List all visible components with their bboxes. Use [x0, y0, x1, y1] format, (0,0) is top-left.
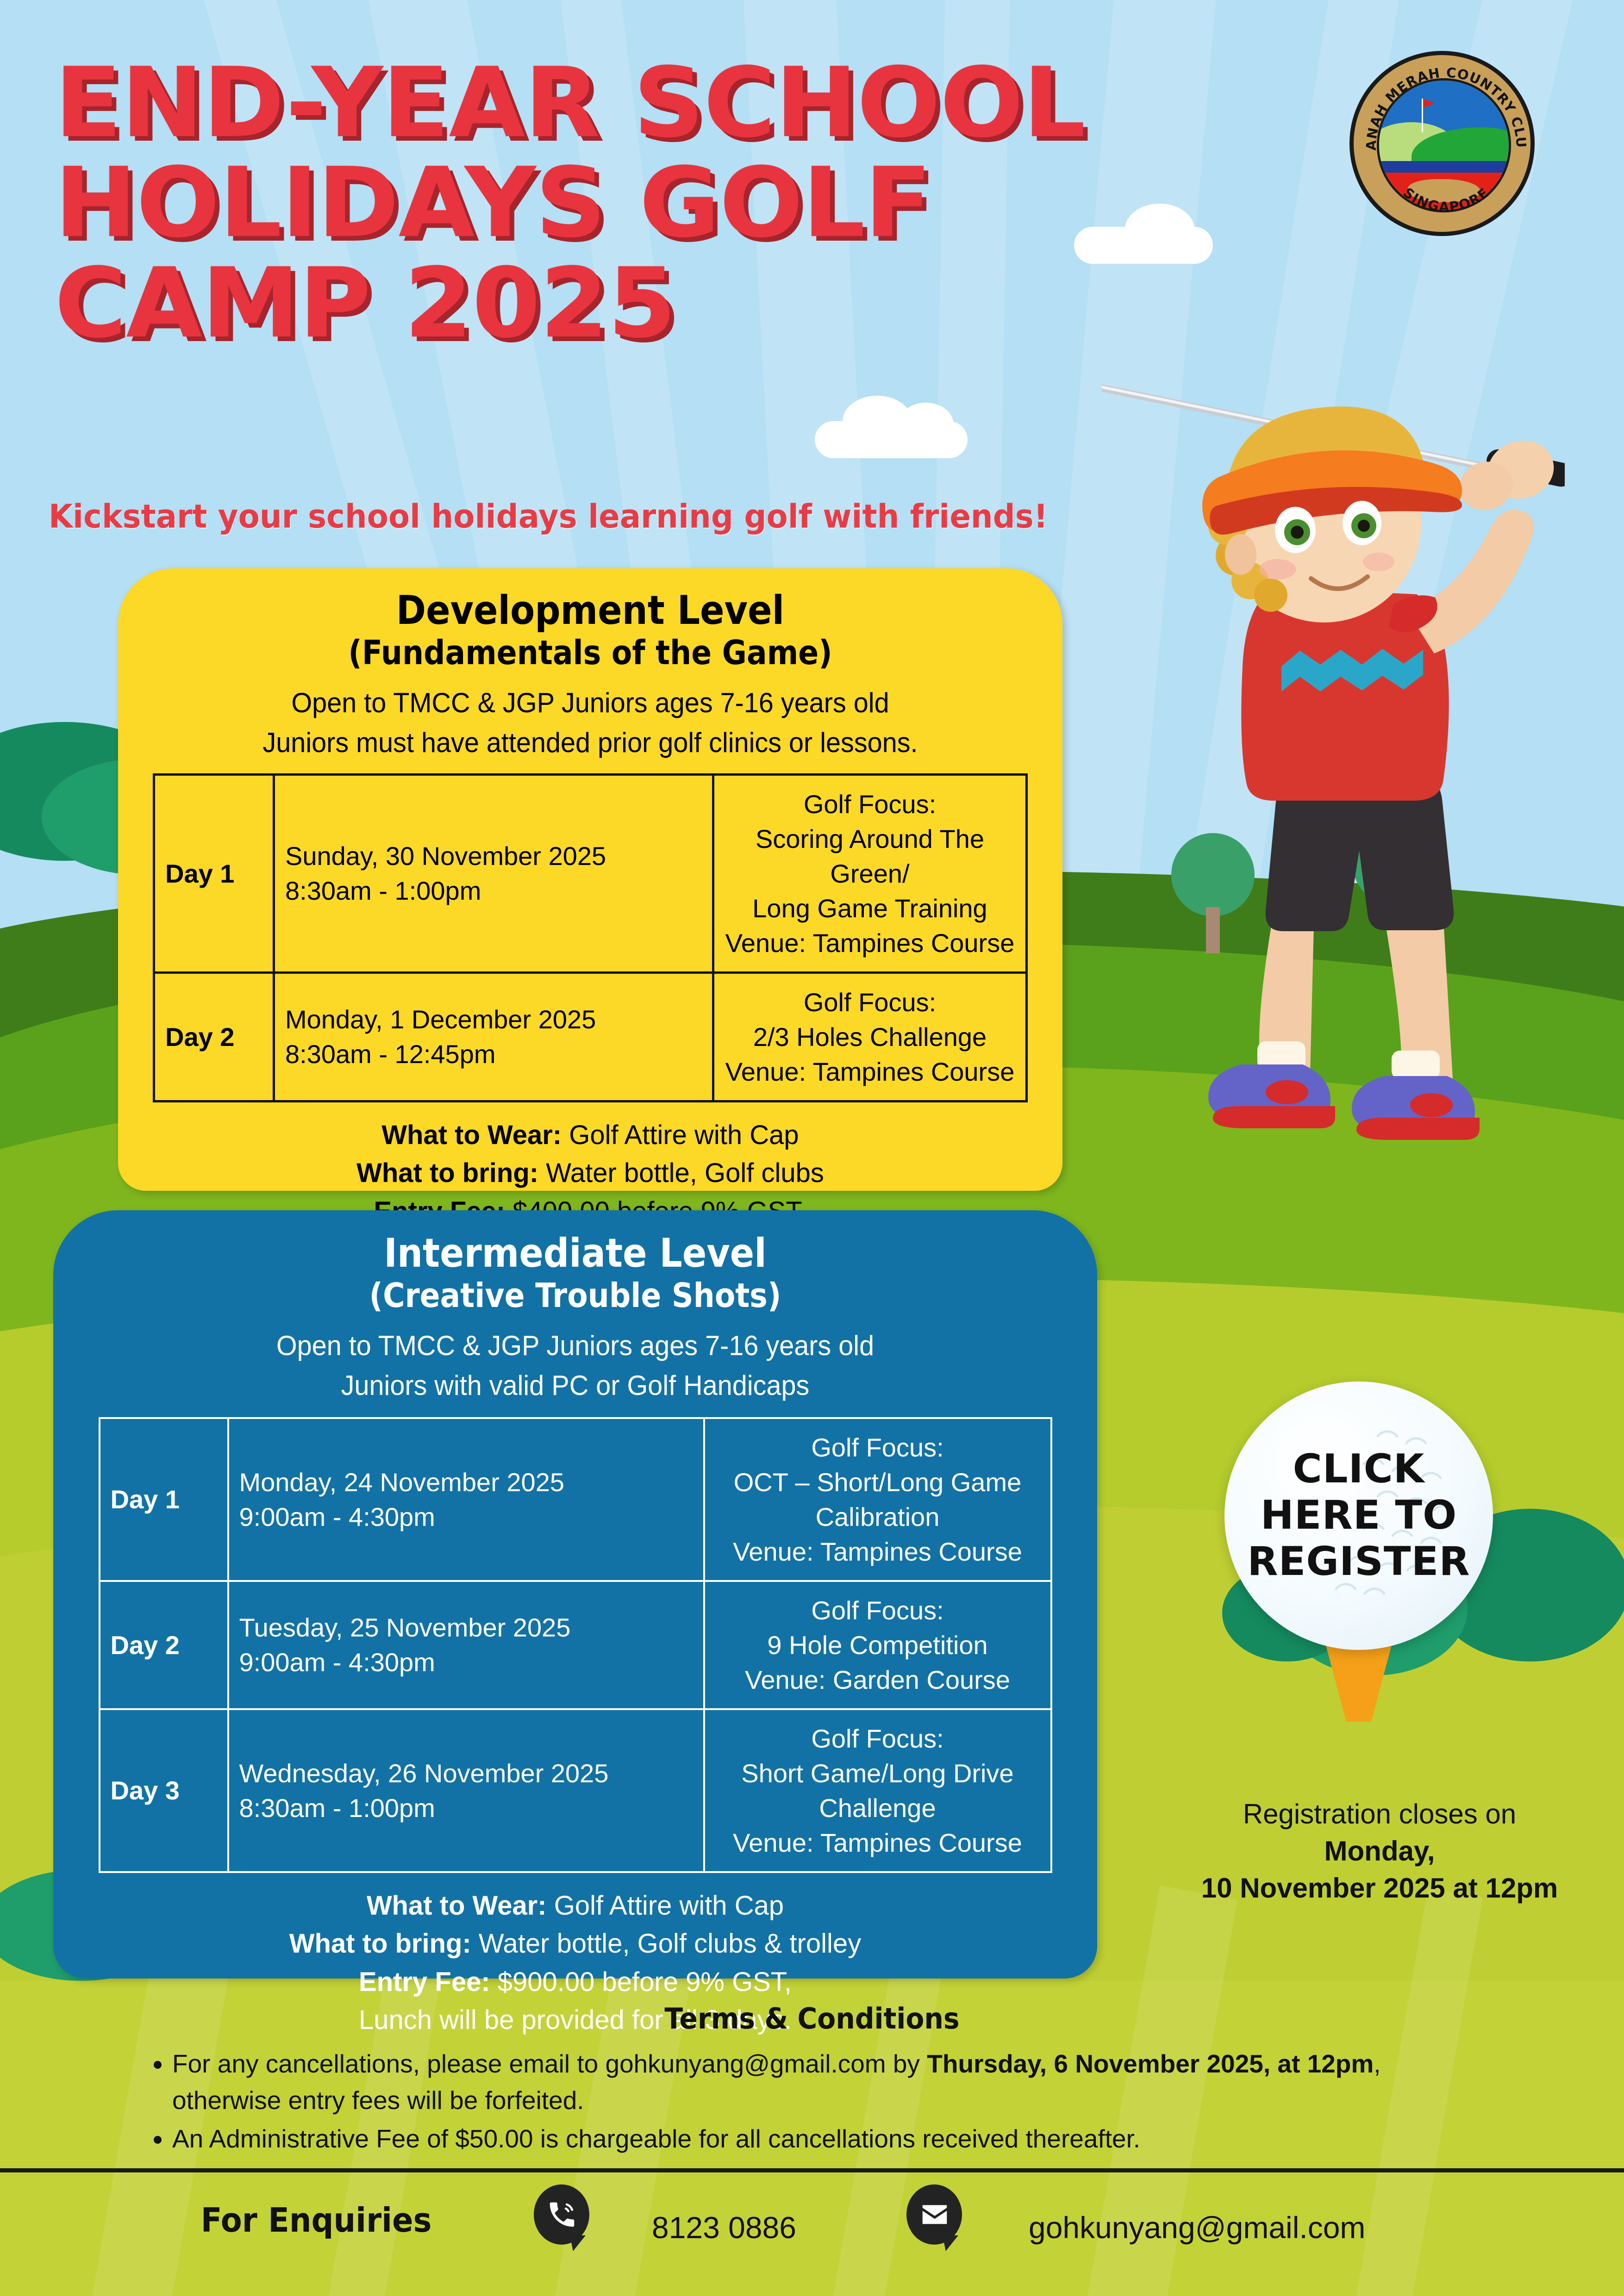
phone-icon[interactable]	[534, 2184, 589, 2245]
date-time-cell: Monday, 24 November 2025 9:00am - 4:30pm	[228, 1418, 704, 1581]
wear-value: Golf Attire with Cap	[569, 1120, 799, 1150]
wear-label: What to Wear:	[367, 1891, 547, 1921]
date-text: Monday, 1 December 2025	[285, 1002, 702, 1037]
cta-line-1: CLICK	[1293, 1446, 1425, 1493]
page-title: END-YEAR SCHOOL HOLIDAYS GOLF CAMP 2025	[55, 53, 1292, 354]
title-line-1: END-YEAR SCHOOL	[55, 53, 1292, 153]
wear-value: Golf Attire with Cap	[554, 1891, 784, 1921]
registration-closes-note: Registration closes on Monday, 10 Novemb…	[1139, 1796, 1620, 1906]
intermediate-title: Intermediate Level	[106, 1232, 1045, 1275]
focus-cell: Golf Focus: Scoring Around The Green/ Lo…	[713, 774, 1027, 972]
development-subtitle: (Fundamentals of the Game)	[165, 635, 1015, 671]
development-eligibility-1: Open to TMCC & JGP Juniors ages 7-16 yea…	[137, 683, 1043, 722]
fee-value: $900.00 before 9% GST,	[498, 1967, 792, 1997]
logo-country-name: SINGAPORE	[1400, 185, 1492, 215]
closes-line-3: 10 November 2025 at 12pm	[1139, 1870, 1620, 1907]
page-subtitle: Kickstart your school holidays learning …	[49, 498, 1115, 535]
focus-cell: Golf Focus: 2/3 Holes Challenge Venue: T…	[713, 972, 1027, 1101]
fee-label: Entry Fee:	[359, 1967, 490, 1997]
list-item: For any cancellations, please email to g…	[172, 2046, 1486, 2119]
table-row: Day 3 Wednesday, 26 November 2025 8:30am…	[100, 1709, 1051, 1872]
golfer-illustration	[1102, 370, 1565, 1342]
terms-list: For any cancellations, please email to g…	[153, 2046, 1486, 2159]
time-text: 8:30am - 12:45pm	[285, 1037, 702, 1071]
intermediate-eligibility-2: Juniors with valid PC or Golf Handicaps	[74, 1366, 1076, 1405]
time-text: 8:30am - 1:00pm	[239, 1791, 693, 1825]
day-label: Day 1	[154, 774, 274, 972]
svg-text:TANAH MERAH COUNTRY CLUB: TANAH MERAH COUNTRY CLUB	[1354, 55, 1529, 151]
wear-label: What to Wear:	[381, 1120, 562, 1150]
logo-ring-text: TANAH MERAH COUNTRY CLUB SINGAPORE	[1354, 55, 1539, 240]
focus-line-2: Long Game Training	[725, 891, 1015, 926]
date-time-cell: Sunday, 30 November 2025 8:30am - 1:00pm	[274, 774, 713, 972]
list-item: An Administrative Fee of $50.00 is charg…	[172, 2121, 1486, 2157]
wear-line: What to Wear: Golf Attire with Cap	[118, 1116, 1062, 1154]
focus-line-1: OCT – Short/Long Game Calibration	[715, 1465, 1040, 1534]
time-text: 9:00am - 4:30pm	[239, 1645, 693, 1680]
terms-item1-b: Thursday, 6 November 2025, at 12pm	[927, 2049, 1374, 2078]
focus-line-1: Scoring Around The Green/	[725, 821, 1015, 891]
intermediate-schedule-table: Day 1 Monday, 24 November 2025 9:00am - …	[99, 1417, 1052, 1873]
bring-value: Water bottle, Golf clubs	[546, 1158, 824, 1188]
enquiries-label: For Enquiries	[201, 2201, 432, 2240]
venue-text: Venue: Garden Course	[715, 1662, 1040, 1697]
closes-line-2: Monday,	[1139, 1833, 1620, 1870]
time-text: 8:30am - 1:00pm	[285, 873, 702, 908]
intermediate-level-card: Intermediate Level (Creative Trouble Sho…	[53, 1210, 1097, 1979]
focus-line-1: Short Game/Long Drive Challenge	[715, 1756, 1040, 1825]
title-line-3: CAMP 2025	[55, 254, 1292, 354]
focus-label: Golf Focus:	[715, 1721, 1040, 1756]
date-time-cell: Tuesday, 25 November 2025 9:00am - 4:30p…	[228, 1581, 704, 1709]
terms-title: Terms & Conditions	[49, 2002, 1575, 2035]
cloud-icon	[898, 403, 954, 447]
svg-text:SINGAPORE: SINGAPORE	[1400, 185, 1492, 215]
focus-cell: Golf Focus: Short Game/Long Drive Challe…	[704, 1709, 1051, 1872]
venue-text: Venue: Tampines Course	[715, 1534, 1040, 1569]
day-label: Day 2	[100, 1581, 228, 1709]
register-button-label: CLICK HERE TO REGISTER	[1224, 1381, 1493, 1650]
tmcc-logo: TANAH MERAH COUNTRY CLUB SINGAPORE	[1349, 51, 1535, 236]
wear-line: What to Wear: Golf Attire with Cap	[53, 1887, 1097, 1925]
fee-line: Entry Fee: $900.00 before 9% GST,	[53, 1963, 1097, 2001]
development-eligibility-2: Juniors must have attended prior golf cl…	[137, 723, 1043, 762]
focus-label: Golf Focus:	[725, 985, 1015, 1020]
venue-text: Venue: Tampines Course	[725, 1054, 1015, 1089]
bring-line: What to bring: Water bottle, Golf clubs	[118, 1154, 1062, 1192]
intermediate-subtitle: (Creative Trouble Shots)	[106, 1277, 1045, 1314]
development-level-card: Development Level (Fundamentals of the G…	[118, 568, 1062, 1191]
development-schedule-table: Day 1 Sunday, 30 November 2025 8:30am - …	[153, 773, 1028, 1102]
poster-root: TANAH MERAH COUNTRY CLUB SINGAPORE END-Y…	[0, 0, 1624, 2296]
time-text: 9:00am - 4:30pm	[239, 1500, 693, 1534]
venue-text: Venue: Tampines Course	[715, 1825, 1040, 1860]
title-line-2: HOLIDAYS GOLF	[55, 153, 1292, 253]
focus-label: Golf Focus:	[715, 1430, 1040, 1465]
focus-line-1: 9 Hole Competition	[715, 1628, 1040, 1662]
table-row: Day 1 Sunday, 30 November 2025 8:30am - …	[154, 774, 1027, 972]
email-icon[interactable]	[906, 2184, 962, 2245]
terms-item1-a: For any cancellations, please email to g…	[172, 2049, 927, 2078]
day-label: Day 3	[100, 1709, 228, 1872]
bring-label: What to bring:	[356, 1158, 538, 1188]
bring-label: What to bring:	[289, 1929, 471, 1959]
focus-cell: Golf Focus: OCT – Short/Long Game Calibr…	[704, 1418, 1051, 1581]
closes-line-1: Registration closes on	[1139, 1796, 1620, 1833]
date-text: Wednesday, 26 November 2025	[239, 1756, 693, 1791]
register-button[interactable]: CLICK HERE TO REGISTER	[1224, 1381, 1493, 1650]
day-label: Day 1	[100, 1418, 228, 1581]
intermediate-eligibility-1: Open to TMCC & JGP Juniors ages 7-16 yea…	[74, 1326, 1076, 1365]
focus-label: Golf Focus:	[725, 787, 1015, 821]
date-text: Monday, 24 November 2025	[239, 1465, 693, 1500]
focus-label: Golf Focus:	[715, 1593, 1040, 1628]
date-time-cell: Monday, 1 December 2025 8:30am - 12:45pm	[274, 972, 713, 1101]
development-title: Development Level	[165, 590, 1015, 632]
table-row: Day 2 Tuesday, 25 November 2025 9:00am -…	[100, 1581, 1051, 1709]
logo-club-name: TANAH MERAH COUNTRY CLUB	[1354, 55, 1529, 151]
table-row: Day 2 Monday, 1 December 2025 8:30am - 1…	[154, 972, 1027, 1101]
table-row: Day 1 Monday, 24 November 2025 9:00am - …	[100, 1418, 1051, 1581]
date-text: Tuesday, 25 November 2025	[239, 1610, 693, 1645]
footer-divider	[0, 2168, 1624, 2172]
focus-line-1: 2/3 Holes Challenge	[725, 1020, 1015, 1054]
cta-line-3: REGISTER	[1247, 1539, 1470, 1585]
date-time-cell: Wednesday, 26 November 2025 8:30am - 1:0…	[228, 1709, 704, 1872]
day-label: Day 2	[154, 972, 274, 1101]
bring-value: Water bottle, Golf clubs & trolley	[479, 1929, 861, 1959]
bring-line: What to bring: Water bottle, Golf clubs …	[53, 1925, 1097, 1963]
date-text: Sunday, 30 November 2025	[285, 839, 702, 873]
email-address[interactable]: gohkunyang@gmail.com	[1029, 2210, 1365, 2245]
phone-number[interactable]: 8123 0886	[652, 2210, 796, 2245]
venue-text: Venue: Tampines Course	[725, 926, 1015, 960]
cta-line-2: HERE TO	[1261, 1493, 1457, 1539]
focus-cell: Golf Focus: 9 Hole Competition Venue: Ga…	[704, 1581, 1051, 1709]
